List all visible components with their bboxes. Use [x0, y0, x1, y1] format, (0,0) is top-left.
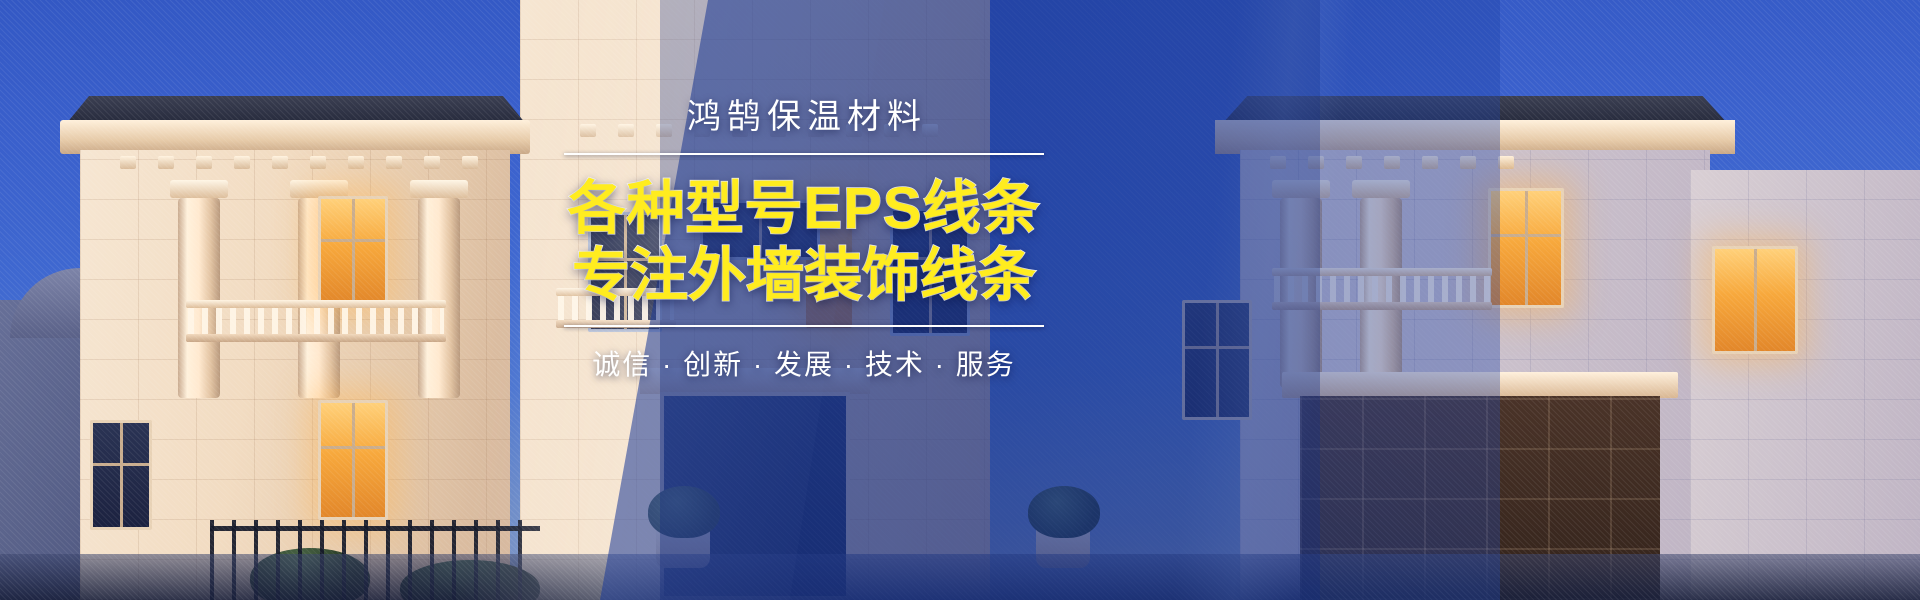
- column-capital: [170, 180, 228, 198]
- dentil-block: [1308, 156, 1324, 169]
- shrub: [1028, 486, 1100, 538]
- window-lit: [318, 400, 388, 520]
- headline-line-2: 专注外墙装饰线条: [564, 242, 1044, 309]
- brand-name: 鸿鹄保温材料: [564, 96, 1044, 139]
- column-capital: [1272, 180, 1330, 198]
- column: [178, 198, 220, 398]
- far-right-wall: [1690, 170, 1920, 600]
- banner-text-block: 鸿鹄保温材料 各种型号EPS线条 专注外墙装饰线条 诚信 · 创新 · 发展 ·…: [564, 96, 1044, 383]
- window: [90, 420, 152, 530]
- garage-lintel: [1282, 372, 1678, 398]
- window-lit: [318, 196, 388, 306]
- dentil-block: [120, 156, 136, 169]
- headline-line-1: 各种型号EPS线条: [564, 175, 1044, 242]
- column: [418, 198, 460, 398]
- window-lit: [1488, 188, 1564, 308]
- dentil-block: [1422, 156, 1438, 169]
- shrub: [648, 486, 720, 538]
- headline: 各种型号EPS线条 专注外墙装饰线条: [564, 175, 1044, 310]
- dentil-block: [1346, 156, 1362, 169]
- dentil-block: [234, 156, 250, 169]
- dentil-block: [1384, 156, 1400, 169]
- dentil-block: [158, 156, 174, 169]
- column-capital: [1352, 180, 1410, 198]
- right-wing-cornice: [1215, 120, 1735, 154]
- window-lit: [1712, 246, 1798, 354]
- divider-bottom: [564, 325, 1044, 327]
- ground: [0, 554, 1920, 600]
- dentil-block: [462, 156, 478, 169]
- hero-banner: 鸿鹄保温材料 各种型号EPS线条 专注外墙装饰线条 诚信 · 创新 · 发展 ·…: [0, 0, 1920, 600]
- dentil-block: [272, 156, 288, 169]
- column-capital: [410, 180, 468, 198]
- balustrade: [186, 300, 446, 342]
- tagline: 诚信 · 创新 · 发展 · 技术 · 服务: [564, 343, 1044, 383]
- dentil-block: [1270, 156, 1286, 169]
- dentil-block: [424, 156, 440, 169]
- balustrade: [1272, 268, 1492, 310]
- dentil-block: [196, 156, 212, 169]
- left-wing-cornice: [60, 120, 530, 154]
- dentil-block: [1498, 156, 1514, 169]
- dentil-block: [1460, 156, 1476, 169]
- dentil-block: [310, 156, 326, 169]
- dentil-block: [386, 156, 402, 169]
- window: [1182, 300, 1252, 420]
- divider-top: [564, 153, 1044, 155]
- dentil-block: [348, 156, 364, 169]
